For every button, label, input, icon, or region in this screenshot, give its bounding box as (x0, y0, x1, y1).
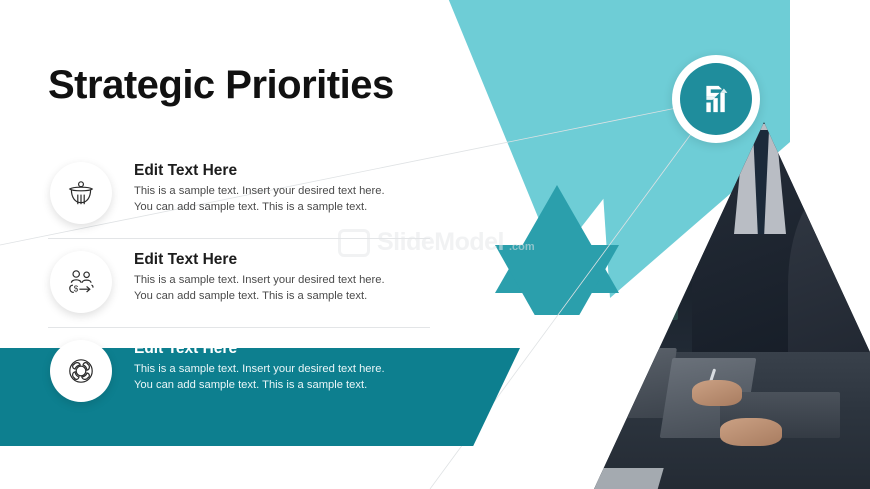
people-money-transfer-icon: $ (50, 251, 112, 313)
list-item-body: This is a sample text. Insert your desir… (134, 184, 434, 216)
list-item-body: This is a sample text. Insert your desir… (134, 273, 434, 305)
growth-bars-logo-icon (695, 78, 737, 120)
list-divider (48, 327, 430, 328)
logo-circle (680, 63, 752, 135)
list-item-body-line2: You can add sample text. This is a sampl… (134, 201, 367, 213)
list-item-body-line2: You can add sample text. This is a sampl… (134, 379, 367, 391)
list-item-text: Edit Text Here This is a sample text. In… (134, 162, 434, 216)
priority-list: Edit Text Here This is a sample text. In… (0, 152, 520, 419)
list-item[interactable]: Edit Text Here This is a sample text. In… (0, 330, 520, 419)
svg-text:$: $ (74, 285, 79, 294)
page-title: Strategic Priorities (48, 63, 394, 108)
achievement-person-glyph (65, 177, 97, 209)
lifebuoy-support-glyph (65, 355, 97, 387)
slide-canvas: SlideModel .com Strategic Priorities Edi… (0, 0, 870, 489)
list-item-heading: Edit Text Here (134, 340, 434, 357)
people-money-transfer-glyph: $ (65, 266, 97, 298)
list-item-body-line1: This is a sample text. Insert your desir… (134, 274, 385, 286)
logo-badge (672, 55, 760, 143)
list-item-text: Edit Text Here This is a sample text. In… (134, 340, 434, 394)
lifebuoy-support-icon (50, 340, 112, 402)
achievement-person-icon (50, 162, 112, 224)
list-item[interactable]: Edit Text Here This is a sample text. In… (0, 152, 520, 241)
list-item-body-line1: This is a sample text. Insert your desir… (134, 185, 385, 197)
list-item-body: This is a sample text. Insert your desir… (134, 362, 434, 394)
list-item-heading: Edit Text Here (134, 162, 434, 179)
list-item-body-line2: You can add sample text. This is a sampl… (134, 290, 367, 302)
list-item-body-line1: This is a sample text. Insert your desir… (134, 363, 385, 375)
list-item-text: Edit Text Here This is a sample text. In… (134, 251, 434, 305)
list-divider (48, 238, 430, 239)
list-item-heading: Edit Text Here (134, 251, 434, 268)
list-item[interactable]: $ Edit Text Here This is a sample text. … (0, 241, 520, 330)
